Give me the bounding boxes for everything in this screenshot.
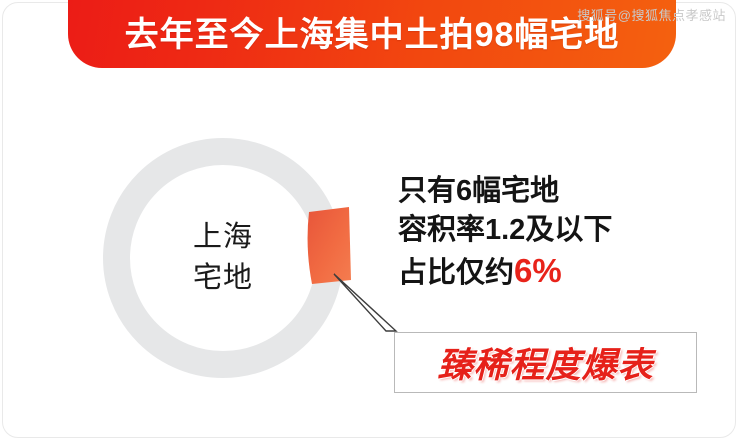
percent-highlight: 6% bbox=[514, 252, 562, 289]
callout-box: 臻稀程度爆表 bbox=[394, 332, 697, 393]
callout-text: 臻稀程度爆表 bbox=[437, 337, 653, 388]
infographic-canvas: 搜狐号@搜狐焦点孝感站 去年至今上海集中土拍98幅宅地 上海 宅地 只有6幅宅地… bbox=[0, 0, 740, 442]
info-line-3: 占比仅约6% bbox=[398, 249, 612, 293]
info-line-2: 容积率1.2及以下 bbox=[398, 211, 612, 250]
info-text-block: 只有6幅宅地 容积率1.2及以下 占比仅约6% bbox=[398, 172, 612, 293]
info-line-1: 只有6幅宅地 bbox=[398, 172, 612, 211]
banner-title: 去年至今上海集中土拍98幅宅地 bbox=[125, 7, 620, 56]
info-line-3-prefix: 占比仅约 bbox=[398, 257, 514, 289]
donut-ring-major-segment bbox=[117, 152, 330, 365]
watermark-text: 搜狐号@搜狐焦点孝感站 bbox=[577, 5, 726, 24]
donut-chart: 上海 宅地 bbox=[103, 138, 343, 378]
donut-ring-svg bbox=[103, 138, 343, 378]
